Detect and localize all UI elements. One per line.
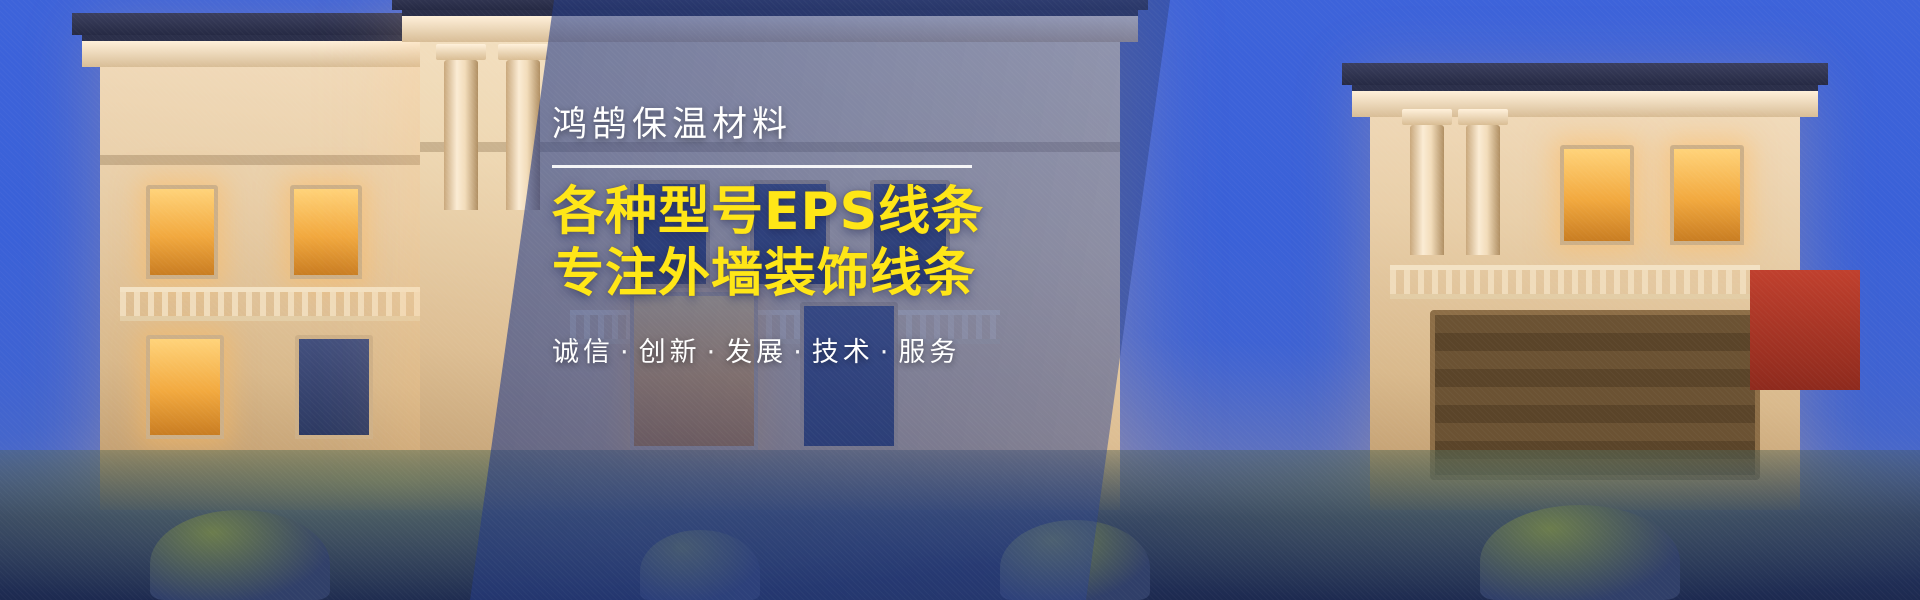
promo-banner: 鸿鹄保温材料 各种型号EPS线条 专注外墙装饰线条 诚信·创新·发展·技术·服务 <box>0 0 1920 600</box>
tagline-item: 创新 <box>639 337 701 368</box>
brand-name: 鸿鹄保温材料 <box>552 96 1022 147</box>
tagline: 诚信·创新·发展·技术·服务 <box>552 330 1022 369</box>
banner-copy: 鸿鹄保温材料 各种型号EPS线条 专注外墙装饰线条 诚信·创新·发展·技术·服务 <box>552 96 1022 369</box>
tagline-item: 诚信 <box>552 337 614 368</box>
tagline-separator: · <box>874 337 899 368</box>
divider-rule <box>552 165 972 168</box>
tagline-separator: · <box>787 337 812 368</box>
tagline-separator: · <box>614 337 639 368</box>
tagline-item: 技术 <box>812 337 874 368</box>
tagline-item: 服务 <box>898 337 960 368</box>
headline-line-1: 各种型号EPS线条 <box>552 182 984 242</box>
headline: 各种型号EPS线条 专注外墙装饰线条 <box>552 184 1022 302</box>
tagline-separator: · <box>701 337 726 368</box>
headline-line-2: 专注外墙装饰线条 <box>552 246 1022 302</box>
tagline-item: 发展 <box>725 337 787 368</box>
